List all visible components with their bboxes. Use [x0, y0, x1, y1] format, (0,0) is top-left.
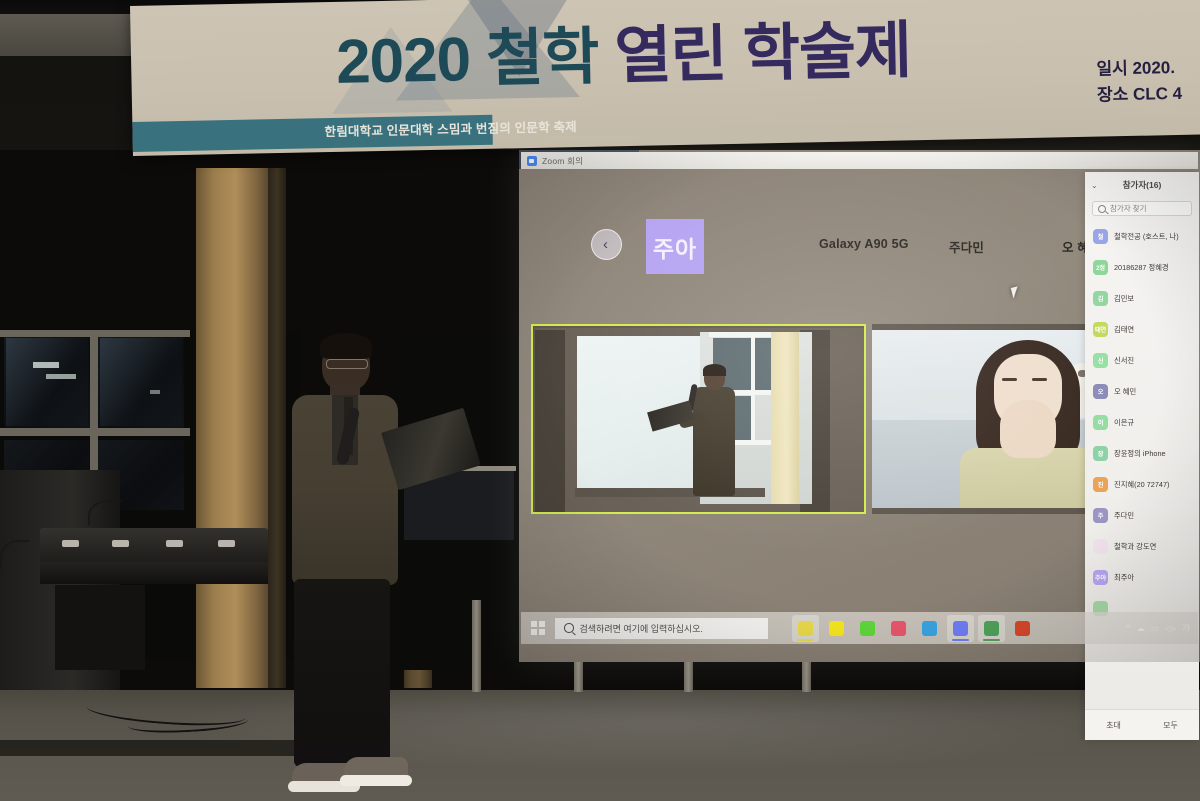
ime-indicator[interactable]: 가 [1182, 622, 1190, 634]
search-icon [1098, 205, 1106, 213]
projection-screen: Zoom 회의 ‹ 주아 Galaxy A90 5G 주다민 오 혜민 [519, 150, 1200, 662]
windows-logo-icon [531, 621, 545, 635]
network-icon[interactable]: ▭ [1151, 623, 1159, 634]
participant-row[interactable]: 철철학전공 (호스트, 나) [1085, 221, 1199, 252]
ceiling-light-reflection-3 [150, 390, 160, 394]
participant-name-galaxy: Galaxy A90 5G [819, 237, 909, 251]
participants-panel-footer: 초대 모두 [1085, 709, 1199, 740]
participant-name: 신서진 [1114, 356, 1134, 366]
participant-row[interactable]: 장장윤정의 iPhone [1085, 438, 1199, 469]
event-banner: 한림대학교 인문대학 스밈과 번짐의 인문학 축제 2020 철학 열린 학술제… [130, 0, 1200, 156]
participants-search-input[interactable]: 참가자 찾기 [1092, 201, 1192, 216]
participant-name-judamin: 주다민 [949, 237, 984, 256]
volume-icon[interactable]: ◁» [1165, 623, 1176, 634]
zoom-icon [953, 621, 968, 636]
ceiling-light-reflection-2 [46, 374, 76, 379]
participant-name: 최주아 [1114, 573, 1134, 583]
participant-name: 이은규 [1114, 418, 1134, 428]
participant-row[interactable]: 김김민보 [1085, 283, 1199, 314]
podium-control-4[interactable] [218, 540, 235, 547]
participant-row[interactable]: 태연김태연 [1085, 314, 1199, 345]
zoom-window-title: Zoom 회의 [542, 155, 583, 167]
participant-avatar: 이 [1093, 415, 1108, 430]
self-initials: 주아 [653, 230, 697, 264]
participant-name: 장윤정의 iPhone [1114, 449, 1166, 459]
participant-avatar: 주아 [1093, 570, 1108, 585]
banner-info-place: 장소 CLC 4 [1097, 80, 1183, 107]
media-player-icon [891, 621, 906, 636]
participant-avatar: 장 [1093, 446, 1108, 461]
participant-row[interactable]: 2정20186287 정혜경 [1085, 252, 1199, 283]
powerpoint-icon [1015, 621, 1030, 636]
participant-avatar: 김 [1093, 291, 1108, 306]
speaker-video-content [535, 328, 866, 514]
self-video-tile[interactable]: 주아 [646, 219, 704, 274]
participant-row[interactable]: 신신서진 [1085, 345, 1199, 376]
invite-button[interactable]: 초대 [1106, 720, 1121, 731]
podium-microphone [0, 540, 30, 570]
participants-panel-header: ⌄ 참가자(16) [1085, 172, 1199, 198]
search-icon [564, 623, 574, 633]
participants-panel: ⌄ 참가자(16) 참가자 찾기 철철학전공 (호스트, 나)2정2018628… [1085, 172, 1199, 740]
presenter-trousers [294, 579, 390, 767]
kakaotalk-icon[interactable] [823, 615, 850, 642]
banner-info: 일시 2020. 장소 CLC 4 [1096, 55, 1182, 108]
podium-control-1[interactable] [62, 540, 79, 547]
banner-info-date: 일시 2020. [1096, 55, 1182, 82]
screenshot-root: 한림대학교 인문대학 스밈과 번짐의 인문학 축제 2020 철학 열린 학술제… [0, 0, 1200, 801]
participant-row[interactable]: 이이은규 [1085, 407, 1199, 438]
participant-row[interactable]: 철학과 강도연 [1085, 531, 1199, 562]
chevron-down-icon[interactable]: ⌄ [1091, 181, 1098, 190]
banner-title-part3: 학술제 [742, 16, 911, 88]
internet-explorer-icon [922, 621, 937, 636]
mute-all-button[interactable]: 모두 [1163, 720, 1178, 731]
onedrive-icon[interactable]: ☁ [1136, 623, 1145, 634]
participant-name: 오 혜민 [1114, 387, 1136, 397]
podium-shelf [55, 585, 145, 670]
zoom-icon[interactable] [947, 615, 974, 642]
naver-icon[interactable] [854, 615, 881, 642]
media-player-icon[interactable] [885, 615, 912, 642]
participant-name: 주다민 [1114, 511, 1134, 521]
zoom-titlebar[interactable]: Zoom 회의 [521, 152, 1198, 169]
banner-title-part2: 열린 [614, 20, 727, 91]
participant-name: 김태연 [1114, 325, 1134, 335]
system-tray: ^☁▭◁»가 [1126, 622, 1198, 634]
show-hidden-icons[interactable]: ^ [1126, 623, 1130, 633]
zoom-icon [527, 156, 537, 166]
start-button[interactable] [521, 621, 555, 635]
participant-avatar: 주 [1093, 508, 1108, 523]
participant-name: 20186287 정혜경 [1114, 263, 1169, 273]
podium-control-2[interactable] [112, 540, 129, 547]
participant-avatar: 2정 [1093, 260, 1108, 275]
participant-row[interactable]: 진진지혜(20 72747) [1085, 469, 1199, 500]
participant-name: 철학전공 (호스트, 나) [1114, 232, 1179, 242]
file-explorer-icon [798, 621, 813, 636]
participant-name: 진지혜(20 72747) [1114, 480, 1169, 490]
wood-column-left [196, 168, 268, 688]
participant-name: 철학과 강도연 [1114, 542, 1156, 552]
podium-control-3[interactable] [166, 540, 183, 547]
participant-avatar: 신 [1093, 353, 1108, 368]
participants-count-label: 참가자(16) [1123, 179, 1162, 191]
participant-avatar: 철 [1093, 229, 1108, 244]
ceiling-light-reflection [33, 362, 59, 368]
stage-step [0, 740, 300, 756]
participant-row[interactable]: 주아최주아 [1085, 562, 1199, 593]
powerpoint-icon[interactable] [1009, 615, 1036, 642]
banner-title-part1: 철학 [486, 23, 599, 94]
chrome-icon [984, 621, 999, 636]
windows-taskbar: 검색하려면 여기에 입력하십시오. ^☁▭◁»가 [521, 612, 1198, 644]
participants-search-placeholder: 참가자 찾기 [1110, 203, 1147, 214]
podium-front [40, 562, 268, 584]
presenter-glasses [326, 359, 368, 369]
kakaotalk-icon [829, 621, 844, 636]
file-explorer-icon[interactable] [792, 615, 819, 642]
prev-page-button[interactable]: ‹ [591, 229, 622, 260]
naver-icon [860, 621, 875, 636]
speaker-figure [693, 366, 735, 496]
participant-name: 김민보 [1114, 294, 1134, 304]
participant-avatar: 진 [1093, 477, 1108, 492]
banner-title: 2020 철학 열린 학술제 [336, 20, 912, 94]
taskbar-search-input[interactable]: 검색하려면 여기에 입력하십시오. [555, 618, 768, 639]
chevron-left-icon: ‹ [603, 237, 608, 252]
presenter-person [282, 333, 404, 798]
banner-year: 2020 [335, 25, 470, 97]
speaker-video-tile[interactable] [531, 324, 866, 514]
participant-row[interactable]: 오오 혜민 [1085, 376, 1199, 407]
participant-avatar: 태연 [1093, 322, 1108, 337]
taskbar-search-placeholder: 검색하려면 여기에 입력하십시오. [580, 622, 703, 635]
participant-row[interactable]: 주주다민 [1085, 500, 1199, 531]
app-open-indicator [797, 639, 814, 641]
podium-microphone-2 [88, 500, 122, 526]
participant-avatar [1093, 539, 1108, 554]
participant-avatar: 오 [1093, 384, 1108, 399]
internet-explorer-icon[interactable] [916, 615, 943, 642]
chrome-icon[interactable] [978, 615, 1005, 642]
taskbar-app-list [792, 615, 1036, 642]
app-open-indicator [983, 639, 1000, 641]
app-open-indicator [952, 639, 969, 641]
student-figure [954, 340, 1104, 508]
